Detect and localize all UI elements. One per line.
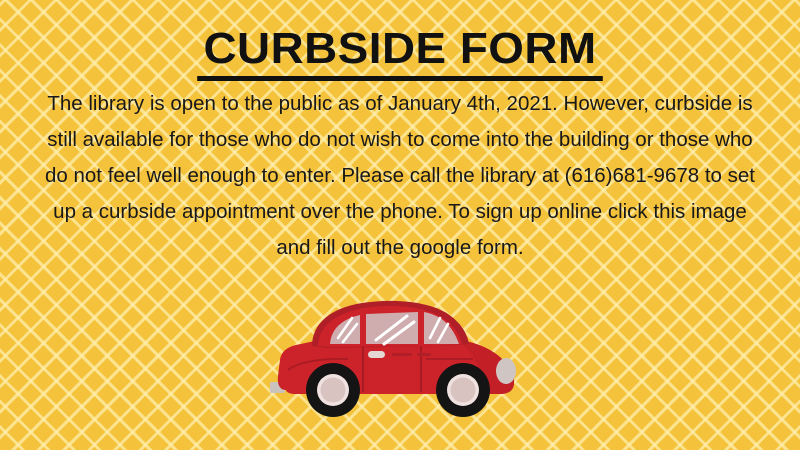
- poster-content: CURBSIDE FORM The library is open to the…: [0, 0, 800, 450]
- car-headlight: [496, 358, 516, 384]
- red-car-illustration[interactable]: [268, 286, 532, 426]
- car-front-hub: [451, 378, 476, 403]
- poster-body-paragraph: The library is open to the public as of …: [40, 86, 760, 266]
- page-title: CURBSIDE FORM: [0, 24, 800, 81]
- car-side-trim-2: [417, 353, 431, 356]
- car-door-handle: [368, 351, 385, 358]
- car-side-trim-1: [392, 353, 412, 356]
- car-svg[interactable]: [268, 286, 532, 426]
- page-title-text: CURBSIDE FORM: [197, 24, 603, 81]
- curbside-form-poster[interactable]: CURBSIDE FORM The library is open to the…: [0, 0, 800, 450]
- car-rear-hub: [321, 378, 346, 403]
